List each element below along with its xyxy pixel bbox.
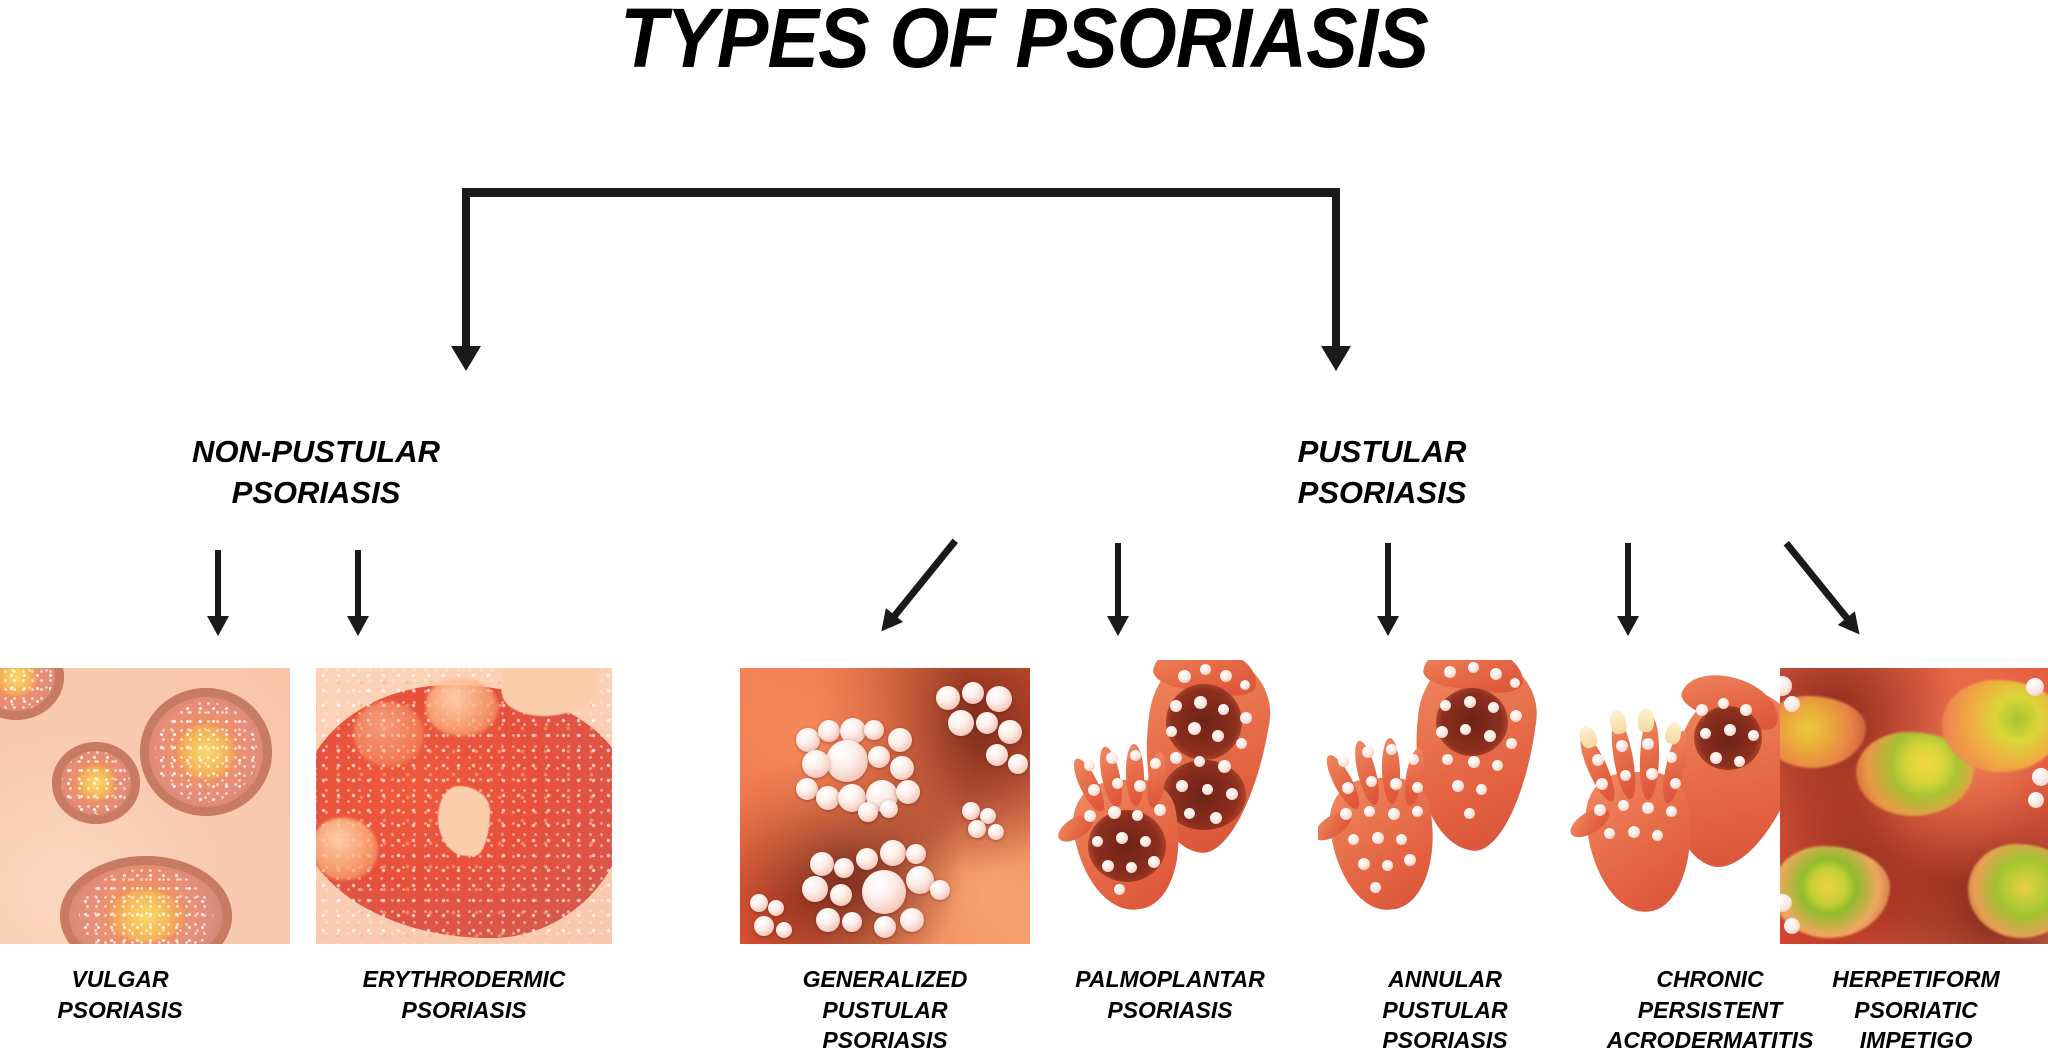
pustule-dot bbox=[1696, 704, 1708, 716]
page-title: TYPES OF PSORIASIS bbox=[82, 0, 1966, 80]
pustule-dot bbox=[1372, 832, 1384, 844]
bracket-right-stem bbox=[1332, 188, 1340, 348]
pustule-dot bbox=[1452, 780, 1464, 792]
pustule-dot bbox=[1166, 726, 1177, 737]
pustule bbox=[830, 884, 852, 906]
pustule bbox=[948, 710, 974, 736]
caption-vulgar-psoriasis: VULGAR PSORIASIS bbox=[10, 964, 230, 1025]
arrow-to-chronic-persistent-acrodermatitis bbox=[1625, 543, 1631, 618]
pustule-dot bbox=[1226, 788, 1238, 800]
pustule-dot bbox=[1700, 728, 1711, 739]
pustule-dot bbox=[1170, 700, 1182, 712]
pustule bbox=[896, 780, 920, 804]
caption-line: ERYTHRODERMIC bbox=[284, 964, 644, 995]
pustule bbox=[900, 908, 924, 932]
pustule-dot bbox=[1642, 802, 1654, 814]
pustule-dot bbox=[1112, 778, 1123, 789]
pustule bbox=[986, 686, 1012, 712]
pustule-dot bbox=[1604, 828, 1615, 839]
erythrodermic-scale-patch bbox=[316, 818, 378, 880]
pustule-dot bbox=[1510, 710, 1522, 722]
pustule-dot bbox=[1464, 808, 1475, 819]
bracket-horizontal-rule bbox=[462, 188, 1340, 197]
pustule-dot bbox=[1390, 778, 1402, 790]
pustule-dot bbox=[1510, 678, 1520, 688]
pustule-dot bbox=[1386, 744, 1397, 755]
erythrodermic-scale-patch bbox=[354, 702, 424, 766]
image-erythrodermic-psoriasis bbox=[316, 668, 612, 944]
pustule-dot bbox=[1484, 730, 1496, 742]
pustule-dot bbox=[1748, 730, 1759, 741]
pustule-dot bbox=[1240, 712, 1252, 724]
pustule bbox=[868, 746, 890, 768]
pustule-dot bbox=[1460, 724, 1471, 735]
pustule-dot bbox=[1412, 806, 1423, 817]
arrow-to-generalized-pustular-psoriasis bbox=[887, 539, 958, 624]
pustule bbox=[936, 686, 960, 710]
pustule bbox=[754, 916, 774, 936]
image-annular-pustular-psoriasis bbox=[1318, 660, 1578, 950]
arrow-to-annular-pustular-psoriasis-head bbox=[1377, 616, 1399, 636]
bracket-right-arrowhead bbox=[1321, 346, 1351, 371]
pustule bbox=[842, 912, 862, 932]
pustule-dot bbox=[2026, 678, 2044, 696]
caption-line: IMPETIGO bbox=[1766, 1025, 2048, 1056]
caption-line: PSORIASIS bbox=[284, 995, 644, 1026]
bracket-left-arrowhead bbox=[451, 346, 481, 371]
image-generalized-pustular-psoriasis bbox=[740, 668, 1030, 944]
pustule-dot bbox=[1176, 780, 1188, 792]
pustule-dot bbox=[1468, 756, 1480, 768]
pustule-dot bbox=[1340, 808, 1352, 820]
pustule bbox=[968, 820, 986, 838]
pustule-dot bbox=[1116, 832, 1128, 844]
pustule bbox=[874, 916, 896, 938]
pustule-dot bbox=[1088, 784, 1100, 796]
pustule bbox=[750, 894, 768, 912]
pustule-dot bbox=[1490, 668, 1502, 680]
pustule-dot bbox=[1436, 726, 1448, 738]
pustule bbox=[796, 728, 820, 752]
pustule-dot bbox=[1646, 768, 1658, 780]
arrow-to-palmoplantar-psoriasis bbox=[1115, 543, 1121, 618]
pustule-dot bbox=[1440, 700, 1451, 711]
pustule-dot bbox=[1488, 702, 1499, 713]
caption-herpetiform-psoriatic-impetigo: HERPETIFORM PSORIATIC IMPETIGO bbox=[1766, 964, 2048, 1056]
arrow-to-erythrodermic-psoriasis-head bbox=[347, 616, 369, 636]
pustule-dot bbox=[1134, 780, 1146, 792]
pustule-dot bbox=[1092, 836, 1103, 847]
pustule bbox=[858, 802, 878, 822]
pustule bbox=[810, 852, 834, 876]
pustule-dot bbox=[1408, 754, 1419, 765]
pustule-dot bbox=[1364, 806, 1375, 817]
bracket-left-stem bbox=[462, 188, 470, 348]
pustule-dot bbox=[1592, 754, 1604, 766]
pustule-dot bbox=[1740, 704, 1752, 716]
pustule-dot bbox=[1718, 698, 1729, 709]
pustule-dot bbox=[1618, 800, 1629, 811]
pustule bbox=[856, 848, 878, 870]
pustule bbox=[816, 786, 840, 810]
arrow-to-vulgar-psoriasis-head bbox=[207, 616, 229, 636]
pustule bbox=[880, 800, 898, 818]
pustule bbox=[1008, 754, 1028, 774]
pustule bbox=[988, 824, 1004, 840]
pustule-dot bbox=[1464, 696, 1476, 708]
pustule-dot bbox=[1594, 804, 1606, 816]
pustule-dot bbox=[1616, 740, 1628, 752]
pustule-dot bbox=[2032, 768, 2048, 786]
pustule-dot bbox=[1784, 696, 1800, 712]
arrow-to-erythrodermic-psoriasis bbox=[355, 550, 361, 618]
pustule-dot bbox=[1596, 778, 1608, 790]
pustule-dot bbox=[1734, 756, 1745, 767]
group-label-pustular: PUSTULAR PSORIASIS bbox=[1222, 432, 1542, 514]
pustule bbox=[864, 720, 884, 740]
caption-erythrodermic-psoriasis: ERYTHRODERMIC PSORIASIS bbox=[284, 964, 644, 1025]
pustule-dot bbox=[1106, 752, 1118, 764]
pustule-dot bbox=[1710, 752, 1722, 764]
pustule-dot bbox=[1084, 760, 1095, 771]
erythrodermic-scale-patch bbox=[426, 678, 498, 736]
caption-line: PSORIASIS bbox=[705, 1025, 1065, 1056]
pustule-dot bbox=[1404, 854, 1416, 866]
type-arrows bbox=[0, 0, 2048, 700]
caption-line: PSORIASIS bbox=[10, 995, 230, 1026]
pustule bbox=[880, 840, 906, 866]
pustule-dot bbox=[1212, 730, 1224, 742]
pustule-dot bbox=[1652, 830, 1663, 841]
pustule-dot bbox=[1620, 770, 1631, 781]
pustule-dot bbox=[1194, 696, 1207, 709]
pustule-dot bbox=[1370, 882, 1381, 893]
pustule-dot bbox=[1108, 806, 1121, 819]
image-herpetiform-psoriatic-impetigo bbox=[1780, 668, 2048, 944]
image-palmoplantar-psoriasis bbox=[1058, 660, 1318, 950]
pustule-dot bbox=[1140, 836, 1151, 847]
pustule-dot bbox=[1388, 808, 1400, 820]
pustule bbox=[768, 900, 784, 916]
pustule-dot bbox=[1148, 856, 1160, 868]
pustule-dot bbox=[2028, 792, 2044, 808]
pustule-dot bbox=[1362, 746, 1374, 758]
pustule-dot bbox=[1102, 860, 1114, 872]
pustule-dot bbox=[1784, 918, 1800, 934]
arrow-to-herpetiform-psoriatic-impetigo bbox=[1784, 541, 1855, 626]
caption-line: HERPETIFORM bbox=[1766, 964, 2048, 995]
pustule bbox=[802, 750, 830, 778]
pustule bbox=[826, 740, 868, 782]
caption-line: PSORIATIC bbox=[1766, 995, 2048, 1026]
pustule-dot bbox=[1084, 810, 1096, 822]
pustule-dot bbox=[1666, 752, 1677, 763]
pustule-dot bbox=[1348, 834, 1359, 845]
pustule-dot bbox=[1506, 738, 1517, 749]
pustule-dot bbox=[1194, 756, 1205, 767]
pustule bbox=[796, 778, 818, 800]
arrow-to-chronic-persistent-acrodermatitis-head bbox=[1617, 616, 1639, 636]
pustule bbox=[834, 858, 854, 878]
psoriasis-plaque bbox=[140, 688, 272, 816]
pustule-dot bbox=[1342, 782, 1354, 794]
pustule-dot bbox=[1382, 860, 1393, 871]
pustule-dot bbox=[1202, 784, 1213, 795]
pustule bbox=[962, 802, 980, 820]
pustule-dot bbox=[1666, 806, 1677, 817]
nail-lesion bbox=[1638, 708, 1655, 733]
pustule-dot bbox=[1338, 756, 1349, 767]
pustule-dot bbox=[1444, 666, 1456, 678]
group-label-line-1: NON-PUSTULAR bbox=[156, 432, 476, 473]
group-label-line-1: PUSTULAR bbox=[1222, 432, 1542, 473]
pustule bbox=[930, 880, 950, 900]
pustule-dot bbox=[1628, 826, 1640, 838]
pustule-dot bbox=[1366, 776, 1377, 787]
pustule-dot bbox=[1412, 782, 1423, 793]
pustule-dot bbox=[1358, 858, 1370, 870]
pustule-dot bbox=[1724, 724, 1736, 736]
pustule-dot bbox=[1468, 662, 1479, 673]
pustule-dot bbox=[1218, 760, 1231, 773]
pustule-dot bbox=[1210, 812, 1222, 824]
pustule-dot bbox=[1236, 738, 1247, 749]
pustule bbox=[802, 876, 828, 902]
lesion-shadow bbox=[1166, 684, 1242, 760]
caption-line: VULGAR bbox=[10, 964, 230, 995]
pustule bbox=[818, 720, 840, 742]
pustule bbox=[816, 908, 840, 932]
pustule-dot bbox=[1642, 738, 1654, 750]
pustule bbox=[962, 682, 984, 704]
image-vulgar-psoriasis bbox=[0, 668, 290, 944]
pustule-dot bbox=[1154, 804, 1166, 816]
pustule-dot bbox=[1200, 664, 1211, 675]
pustule-dot bbox=[1184, 808, 1195, 819]
pustule bbox=[986, 744, 1008, 766]
pustule-dot bbox=[1188, 722, 1201, 735]
pustule-dot bbox=[1132, 810, 1143, 821]
pustule bbox=[890, 756, 914, 780]
pustule-dot bbox=[1130, 750, 1141, 761]
pustule-dot bbox=[1670, 778, 1681, 789]
pustule-dot bbox=[1126, 862, 1137, 873]
pustule-dot bbox=[1220, 670, 1232, 682]
group-label-line-2: PSORIASIS bbox=[1222, 473, 1542, 514]
pustule-dot bbox=[1492, 760, 1503, 771]
pustule-dot bbox=[1114, 884, 1125, 895]
arrow-to-palmoplantar-psoriasis-head bbox=[1107, 616, 1129, 636]
arrow-to-annular-pustular-psoriasis bbox=[1385, 543, 1391, 618]
arrow-to-vulgar-psoriasis bbox=[215, 550, 221, 618]
pustule-dot bbox=[1396, 834, 1407, 845]
pustule-dot bbox=[1240, 680, 1250, 690]
pustule bbox=[906, 844, 926, 864]
pustule-dot bbox=[1178, 670, 1191, 683]
group-label-non-pustular: NON-PUSTULAR PSORIASIS bbox=[156, 432, 476, 514]
pustule bbox=[888, 728, 912, 752]
pustule-dot bbox=[1170, 752, 1182, 764]
pustule-dot bbox=[1150, 758, 1161, 769]
pustule bbox=[862, 870, 906, 914]
psoriasis-plaque bbox=[52, 742, 140, 824]
pustule-dot bbox=[1476, 784, 1487, 795]
group-label-line-2: PSORIASIS bbox=[156, 473, 476, 514]
pustule bbox=[776, 922, 792, 938]
pustule-dot bbox=[1218, 704, 1229, 715]
pustule bbox=[976, 712, 998, 734]
pustule bbox=[998, 720, 1022, 744]
pustule-dot bbox=[1442, 754, 1453, 765]
